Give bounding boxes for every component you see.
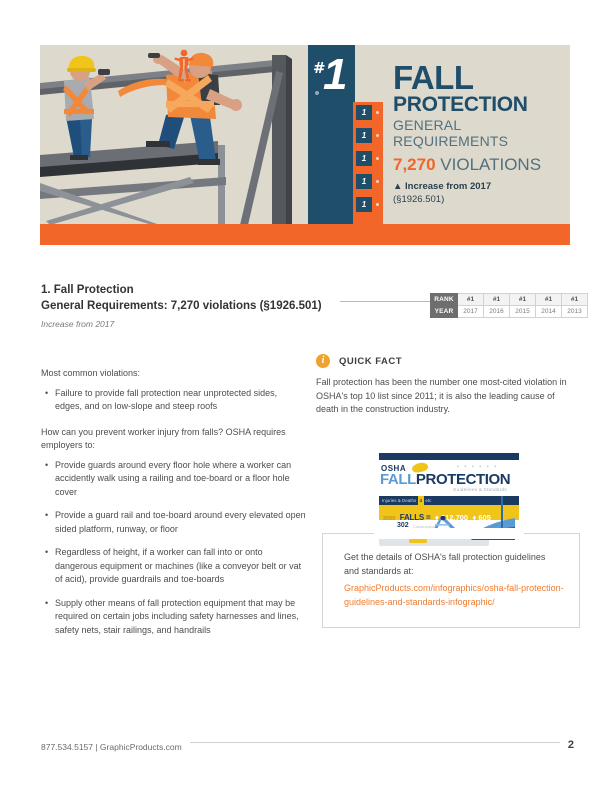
list-item: Supply other means of fall protection eq… bbox=[55, 597, 306, 638]
hero-subtitle: GENERAL REQUIREMENTS bbox=[393, 117, 568, 149]
section-title-block: 1. Fall Protection General Requirements:… bbox=[41, 283, 441, 330]
mini-rank-tab: 1 bbox=[356, 197, 372, 212]
hero-violations-line: 7,270 VIOLATIONS bbox=[393, 155, 568, 174]
table-row-year: YEAR 2017 2016 2015 2014 2013 bbox=[431, 306, 588, 318]
year-cell: 2016 bbox=[484, 306, 510, 318]
left-content-column: Most common violations: Failure to provi… bbox=[41, 367, 306, 647]
callout-description: Get the details of OSHA's fall protectio… bbox=[344, 551, 562, 578]
callout-box bbox=[322, 533, 580, 628]
thumbnail-bluebar-chip: 4 bbox=[418, 496, 425, 505]
mini-rank-tab: 1 bbox=[356, 105, 372, 120]
title-table-connector-line bbox=[340, 301, 432, 302]
callout-top-gap-mask bbox=[374, 528, 524, 539]
footer-contact: 877.534.5157 | GraphicProducts.com bbox=[41, 741, 190, 753]
rank-cell: #1 bbox=[562, 294, 588, 306]
common-violations-list: Failure to provide fall protection near … bbox=[41, 387, 306, 414]
year-cell: 2017 bbox=[458, 306, 484, 318]
list-item: Regardless of height, if a worker can fa… bbox=[55, 546, 306, 587]
page-title-subtitle: Increase from 2017 bbox=[41, 318, 441, 330]
list-item: Failure to provide fall protection near … bbox=[55, 387, 306, 414]
hero-violations-word: VIOLATIONS bbox=[440, 155, 541, 174]
rank-number: 1 bbox=[323, 53, 347, 97]
thumbnail-blue-bar: Injuries & Deaths 4 etc bbox=[379, 496, 519, 505]
quick-fact-header: i QUICK FACT bbox=[316, 352, 580, 370]
callout-link[interactable]: GraphicProducts.com/infographics/osha-fa… bbox=[344, 582, 566, 609]
mini-rank-tab: 1 bbox=[356, 174, 372, 189]
rank-cell: #1 bbox=[536, 294, 562, 306]
rank-dot-decoration bbox=[315, 91, 319, 95]
hero-title-line2: PROTECTION bbox=[393, 94, 568, 116]
right-content-column: i QUICK FACT Fall protection has been th… bbox=[316, 352, 580, 417]
rank-cell: #1 bbox=[510, 294, 536, 306]
hero-title-line1: FALL bbox=[393, 63, 568, 93]
page-title-line1: 1. Fall Protection bbox=[41, 283, 441, 298]
page-number: 2 bbox=[560, 738, 574, 752]
mini-rank-tab: 1 bbox=[356, 151, 372, 166]
prevention-list: Provide guards around every floor hole w… bbox=[41, 459, 306, 638]
hero-text-block: FALL PROTECTION GENERAL REQUIREMENTS 7,2… bbox=[393, 63, 568, 206]
quick-fact-body: Fall protection has been the number one … bbox=[316, 376, 578, 417]
info-icon: i bbox=[316, 354, 330, 368]
year-cell: 2013 bbox=[562, 306, 588, 318]
year-cell: 2014 bbox=[536, 306, 562, 318]
thumbnail-falls-label: FALLS = bbox=[400, 513, 431, 522]
thumbnail-headline: FALLPROTECTION bbox=[380, 472, 510, 488]
thumbnail-bluebar-suffix: etc bbox=[425, 498, 431, 503]
year-row-header: YEAR bbox=[431, 306, 458, 318]
thumbnail-tagline: Guidelines & Standards bbox=[453, 487, 507, 492]
mini-tab-dot-icon bbox=[376, 203, 379, 206]
hero-standard-code: (§1926.501) bbox=[393, 194, 568, 206]
hero-accent-band bbox=[40, 224, 570, 245]
common-violations-intro: Most common violations: bbox=[41, 367, 306, 381]
mini-tab-dot-icon bbox=[376, 180, 379, 183]
hero-banner: # 1 1 1 1 1 1 FALL PROTECTION GENERAL RE… bbox=[40, 45, 570, 245]
thumbnail-headline-light: FALL bbox=[380, 471, 416, 488]
rank-history-table: RANK #1 #1 #1 #1 #1 YEAR 2017 2016 2015 … bbox=[430, 293, 588, 318]
rank-cell: #1 bbox=[484, 294, 510, 306]
thumbnail-year: 2009 bbox=[383, 516, 395, 522]
mini-rank-tab: 1 bbox=[356, 128, 372, 143]
list-item: Provide a guard rail and toe-board aroun… bbox=[55, 509, 306, 536]
list-item: Provide guards around every floor hole w… bbox=[55, 459, 306, 500]
table-row-rank: RANK #1 #1 #1 #1 #1 bbox=[431, 294, 588, 306]
thumbnail-bluebar-text: Injuries & Deaths bbox=[382, 498, 416, 503]
fall-arrest-figure-icon bbox=[173, 49, 195, 83]
year-cell: 2015 bbox=[510, 306, 536, 318]
thumbnail-dots-decoration: ▪ ▪ ▪ ▪ ▪ ▪ bbox=[457, 464, 498, 470]
hero-increase-note: ▲ Increase from 2017 bbox=[393, 181, 568, 193]
rank-row-header: RANK bbox=[431, 294, 458, 306]
quick-fact-title: QUICK FACT bbox=[339, 356, 402, 367]
hero-violations-number: 7,270 bbox=[393, 155, 436, 174]
prevention-intro: How can you prevent worker injury from f… bbox=[41, 426, 306, 453]
thumbnail-top-bar bbox=[379, 453, 519, 460]
rank-cell: #1 bbox=[458, 294, 484, 306]
thumbnail-headline-dark: PROTECTION bbox=[416, 471, 510, 488]
mini-tab-dot-icon bbox=[376, 134, 379, 137]
mini-tab-dot-icon bbox=[376, 111, 379, 114]
mini-tab-dot-icon bbox=[376, 157, 379, 160]
